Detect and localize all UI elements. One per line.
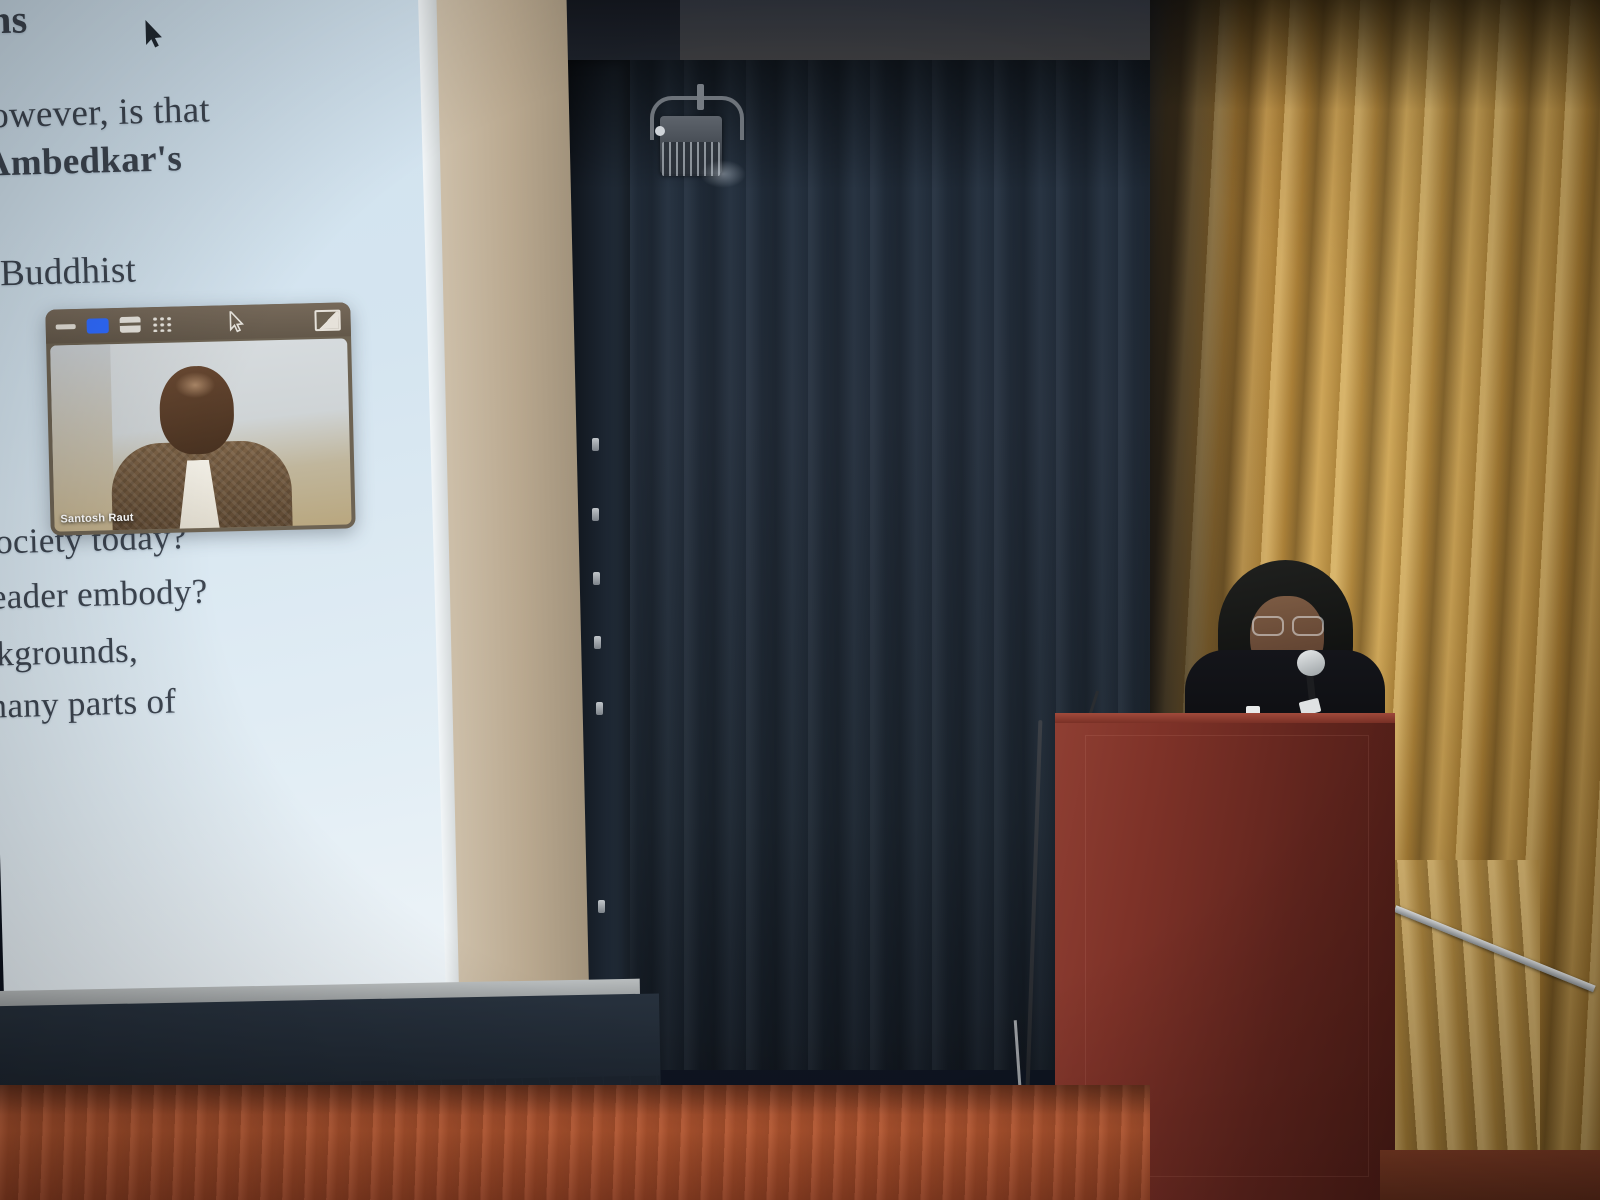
conference-hall-photo: ons however, is that , Ambedkar's e Budd…: [0, 0, 1600, 1200]
curtain-clip: [594, 636, 601, 649]
curtain-clip: [598, 900, 605, 913]
stage-light-glow: [700, 160, 746, 188]
wall-strip: [436, 0, 589, 1021]
presenter-glasses-left: [1252, 616, 1284, 636]
curtain-clip: [596, 702, 603, 715]
stage-light-knob: [655, 126, 665, 136]
minimize-dash-icon[interactable]: [56, 324, 76, 329]
slide-line: ons: [0, 0, 28, 44]
slide-line: , Ambedkar's: [0, 137, 183, 186]
slide-line: e Buddhist: [0, 248, 137, 296]
presenter-glasses-right: [1292, 616, 1324, 636]
slide-line: however, is that: [0, 88, 211, 138]
curtain-clip: [593, 572, 600, 585]
microphone-icon: [1297, 650, 1325, 676]
curtain-clip: [592, 508, 599, 521]
floor-shadow: [0, 1085, 1150, 1115]
mouse-pointer-icon: [228, 311, 245, 333]
slide-line: many parts of: [0, 681, 177, 726]
mouse-pointer-icon: [143, 19, 166, 50]
wooden-floor-right: [1380, 1150, 1600, 1200]
slide-line: leader embody?: [0, 572, 208, 618]
panel-layout-icon[interactable]: [314, 309, 341, 331]
podium-top-edge: [1055, 713, 1395, 723]
video-background-left: [50, 344, 115, 531]
participant-video-feed[interactable]: Santosh Raut: [50, 338, 351, 531]
grid-gallery-icon[interactable]: [151, 316, 171, 332]
participant-name-label: Santosh Raut: [60, 512, 134, 526]
curtain-clip: [592, 438, 599, 451]
video-call-window[interactable]: Santosh Raut: [45, 302, 355, 535]
stage-light-stem: [697, 84, 704, 110]
active-view-icon[interactable]: [87, 318, 109, 334]
slide-line: ckgrounds,: [0, 631, 138, 675]
split-view-icon[interactable]: [119, 316, 140, 333]
video-window-toolbar[interactable]: [45, 302, 351, 343]
